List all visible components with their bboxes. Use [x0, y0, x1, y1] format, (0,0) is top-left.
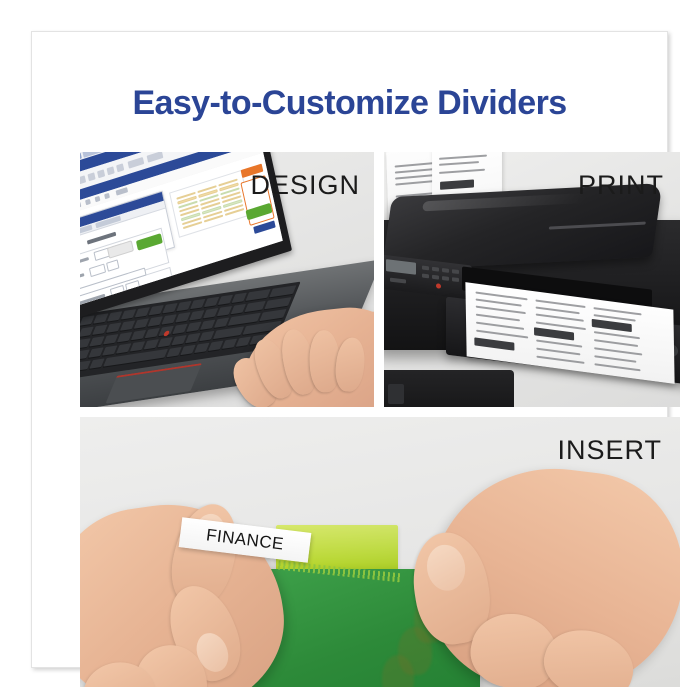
panel-print: PRINT	[384, 152, 680, 407]
printer-lcd	[386, 259, 416, 275]
white-card: Easy-to-Customize Dividers	[31, 31, 668, 668]
printer-front-port	[388, 384, 404, 404]
label-grid	[176, 179, 244, 230]
panel-design: DESIGN	[80, 152, 374, 407]
page-title: Easy-to-Customize Dividers	[32, 84, 667, 123]
printer-power-led	[436, 283, 441, 289]
step-label-design: DESIGN	[250, 170, 360, 201]
printer-front-panel	[384, 370, 514, 407]
label-preview	[169, 170, 251, 238]
product-infographic: Easy-to-Customize Dividers	[0, 0, 700, 700]
panel-insert: FINANCE INSERT	[80, 417, 680, 687]
printer	[384, 220, 680, 350]
step-label-print: PRINT	[578, 170, 664, 201]
label-strip-text: FINANCE	[205, 525, 285, 554]
step-label-insert: INSERT	[557, 435, 662, 466]
